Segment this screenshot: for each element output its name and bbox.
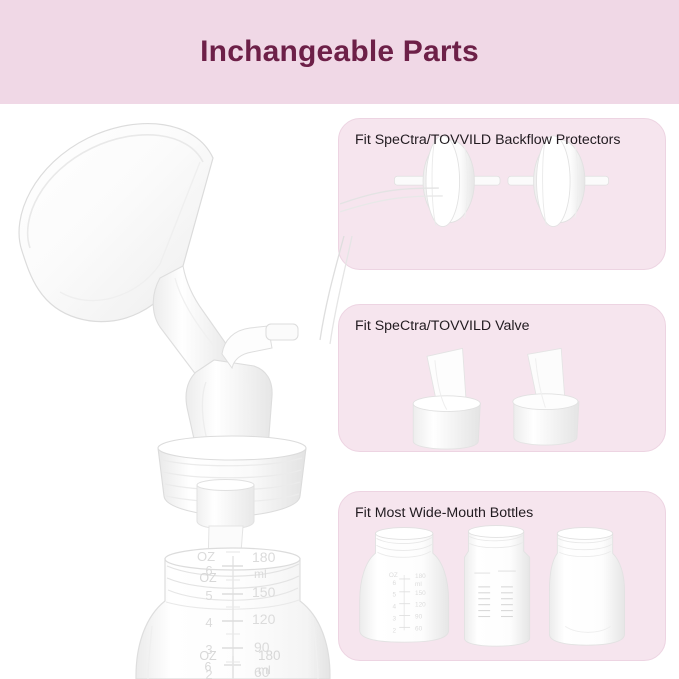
product-infographic: Inchangeable Parts xyxy=(0,0,679,679)
mini-scale-4: 4 xyxy=(392,604,396,611)
callout-valve-label: Fit SpeCtra/TOVVILD Valve xyxy=(355,317,655,336)
mini-scale-150: 150 xyxy=(415,590,426,597)
main-assembly-illustration: OZ 180 6 ml OZ xyxy=(0,96,360,679)
scale-unit-ml: ml xyxy=(258,663,271,677)
wide-mouth-bottle: OZ 180 6 ml xyxy=(136,548,330,679)
callout-bottles-label: Fit Most Wide-Mouth Bottles xyxy=(355,504,655,523)
mini-scale-120: 120 xyxy=(415,602,426,609)
callout-backflow-label: Fit SpeCtra/TOVVILD Backflow Protectors xyxy=(355,131,655,150)
mini-scale-180: 180 xyxy=(415,573,426,580)
callout-backflow-protectors: Fit SpeCtra/TOVVILD Backflow Protectors xyxy=(338,118,666,270)
threaded-collar xyxy=(158,436,306,516)
scale-ml-180: 180 xyxy=(258,648,281,663)
breast-shield-flange xyxy=(19,124,236,380)
main-assembly-art: OZ 180 6 ml xyxy=(0,96,360,679)
bottle-scale-lower-labels: OZ xyxy=(0,96,360,679)
scale-oz-6: 6 xyxy=(205,660,212,674)
page-title: Inchangeable Parts xyxy=(0,0,679,104)
duckbill-valve xyxy=(197,480,254,573)
scale-unit-oz-main: OZ xyxy=(199,571,217,585)
callout-valve: Fit SpeCtra/TOVVILD Valve xyxy=(338,304,666,452)
bottle-measurement-scale: OZ 180 6 ml xyxy=(199,648,280,679)
header-band: Inchangeable Parts xyxy=(0,0,679,104)
scale-unit-oz: OZ xyxy=(199,649,217,663)
mini-scale-6: 6 xyxy=(392,580,396,587)
mini-scale-90: 90 xyxy=(415,613,423,620)
mini-scale-2: 2 xyxy=(392,627,396,634)
mini-scale-3: 3 xyxy=(392,615,396,622)
mini-scale-ml: ml xyxy=(415,581,422,588)
mini-scale-5: 5 xyxy=(392,592,396,599)
callout-wide-mouth-bottles: OZ 180 6 ml 5 150 4 120 3 90 2 60 xyxy=(338,491,666,661)
mini-scale-oz: OZ xyxy=(389,572,398,579)
mini-scale-60: 60 xyxy=(415,625,423,632)
pump-connector-body xyxy=(186,324,298,448)
